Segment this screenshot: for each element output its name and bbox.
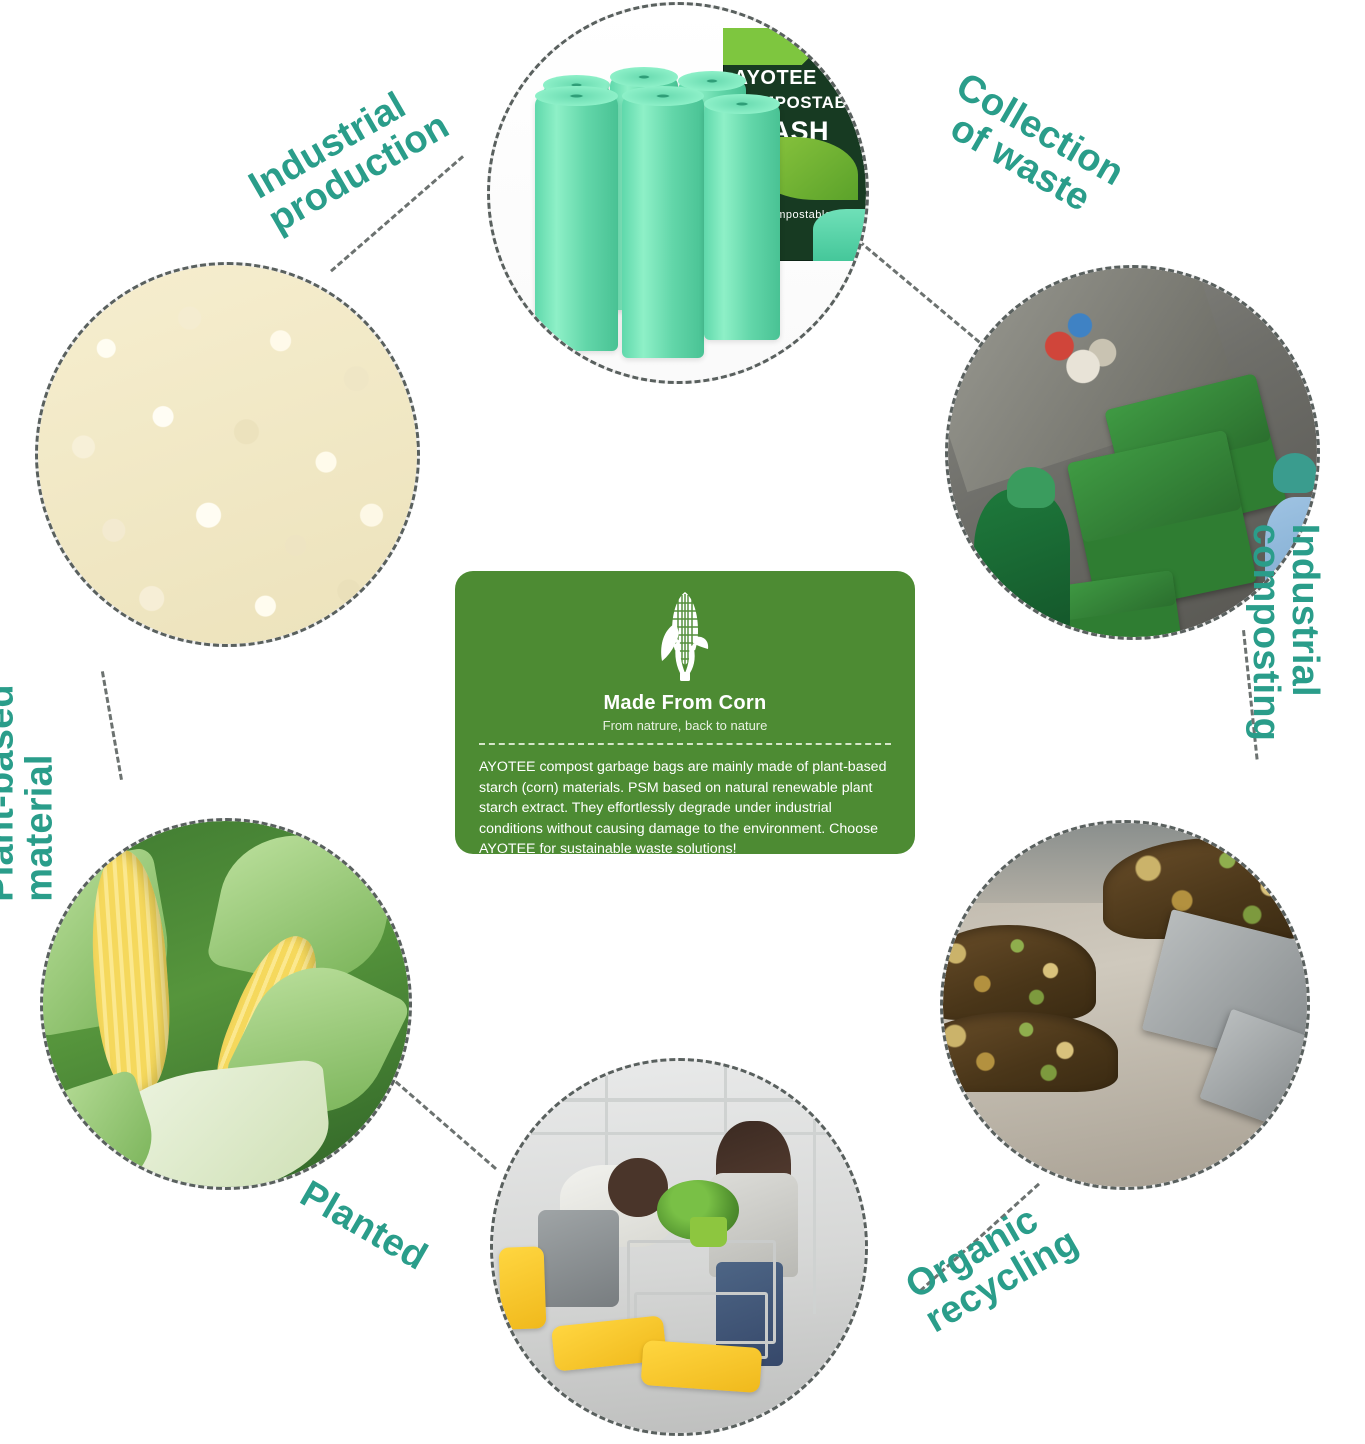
worker-blue-cap — [1273, 453, 1317, 494]
card-divider — [479, 743, 891, 745]
node-industrial-production[interactable]: AYOTEE COMPOSTABLE TRASH Compostable — [487, 2, 869, 384]
infographic-canvas: AYOTEE COMPOSTABLE TRASH Compostable — [0, 0, 1365, 1444]
node-plant-based-material[interactable] — [35, 262, 420, 647]
step-label-organic-recycling: Organic recycling — [900, 1168, 1121, 1340]
package-brand: AYOTEE — [733, 67, 816, 90]
step-label-industrial-composting: Industrial composting — [1246, 524, 1324, 774]
step-label-collection-of-waste: Collection of waste — [924, 63, 1136, 230]
step-label-planted: Planted — [294, 1175, 487, 1309]
node-garden-centre[interactable] — [490, 1058, 868, 1436]
photo-resin-pellets — [38, 265, 417, 644]
card-subtitle: From natrure, back to nature — [477, 718, 893, 733]
corn-cob-left — [86, 848, 176, 1094]
node-industrial-composting[interactable] — [940, 820, 1310, 1190]
photo-garden-centre — [493, 1061, 865, 1433]
center-info-card: Made From Corn From natrure, back to nat… — [455, 571, 915, 854]
corn-icon — [477, 589, 893, 690]
step-label-industrial-production: Industrial production — [243, 58, 481, 240]
step-label-plant-based-material: Plant-based material — [0, 652, 59, 902]
card-title: Made From Corn — [477, 692, 893, 715]
worker-green-uniform — [974, 489, 1070, 637]
node-corn-field[interactable] — [40, 818, 412, 1190]
photo-composting-site — [943, 823, 1307, 1187]
worker-green-cap — [1007, 467, 1055, 508]
card-body-text: AYOTEE compost garbage bags are mainly m… — [477, 757, 893, 860]
photo-bag-rolls: AYOTEE COMPOSTABLE TRASH Compostable — [490, 5, 866, 381]
photo-corn-cobs — [43, 821, 409, 1187]
connector-planted-to-plantbased — [101, 671, 123, 780]
